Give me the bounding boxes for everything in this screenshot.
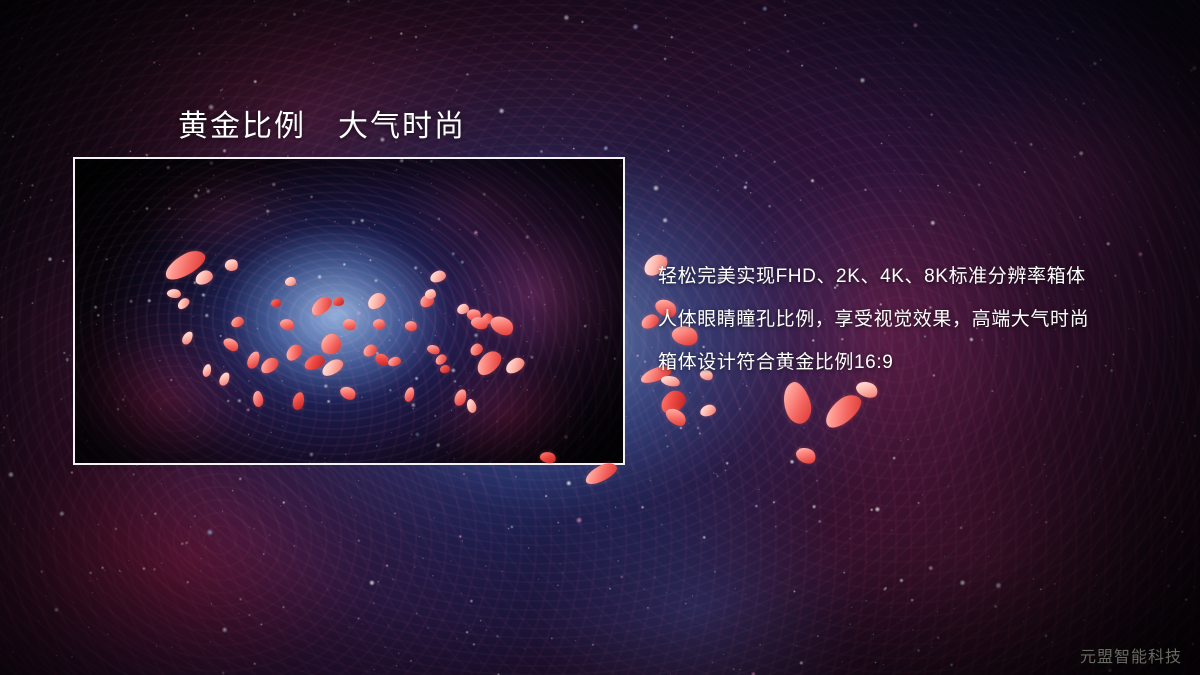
flower-petal (285, 277, 296, 286)
watermark: 元盟智能科技 (1080, 643, 1182, 667)
body-line: 人体眼睛瞳孔比例，享受视觉效果，高端大气时尚 (658, 298, 1178, 341)
flower-petal (440, 365, 450, 373)
body-line: 轻松完美实现FHD、2K、4K、8K标准分辨率箱体 (658, 255, 1178, 298)
slide-canvas: 黄金比例 大气时尚 轻松完美实现FHD、2K、4K、8K标准分辨率箱体人体眼睛瞳… (0, 0, 1200, 675)
body-line: 箱体设计符合黄金比例16:9 (658, 341, 1178, 384)
page-title: 黄金比例 大气时尚 (178, 101, 466, 145)
body-text-block: 轻松完美实现FHD、2K、4K、8K标准分辨率箱体人体眼睛瞳孔比例，享受视觉效果… (658, 255, 1178, 384)
panel-vignette (75, 159, 623, 463)
flower-petal (271, 299, 281, 307)
flower-petal (333, 297, 344, 306)
image-panel-content (75, 159, 623, 463)
framed-nebula-image (73, 157, 625, 465)
